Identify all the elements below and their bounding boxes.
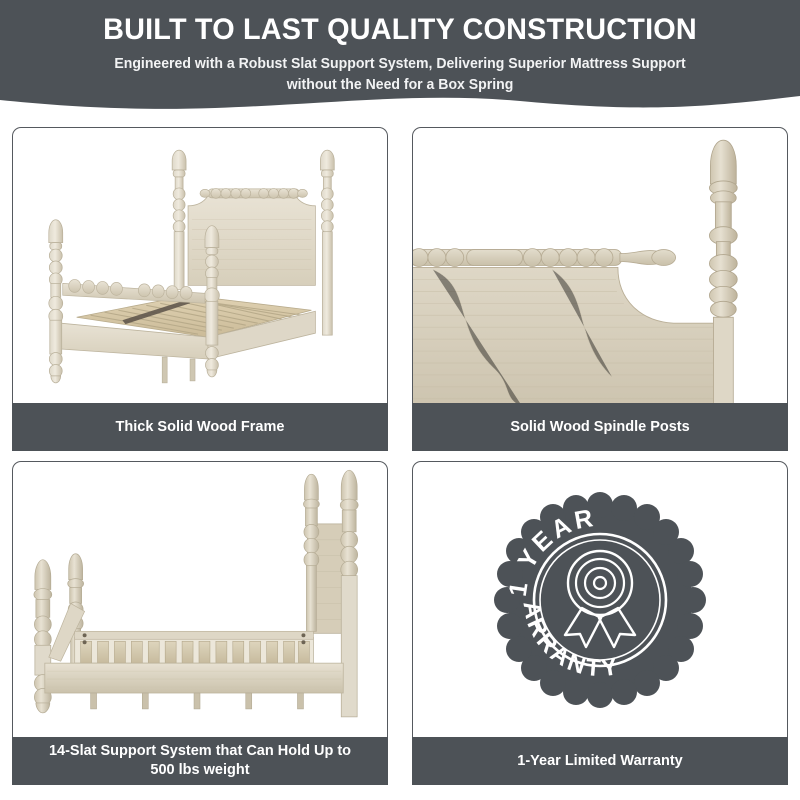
feature-card-grid: Thick Solid Wood Frame: [12, 127, 788, 785]
caption-line: Solid Wood Spindle Posts: [510, 418, 689, 437]
subtitle-line-1: Engineered with a Robust Slat Support Sy…: [12, 54, 788, 75]
feature-card-thick-solid-wood-frame: Thick Solid Wood Frame: [12, 127, 388, 451]
warranty-seal-icon: 1 YEAR WARRANTY: [487, 487, 713, 713]
page-title: BUILT TO LAST QUALITY CONSTRUCTION: [16, 11, 784, 49]
card-image-frame: [12, 127, 388, 403]
caption-line: Thick Solid Wood Frame: [116, 418, 285, 437]
header-banner: BUILT TO LAST QUALITY CONSTRUCTION Engin…: [0, 0, 800, 118]
page-subtitle: Engineered with a Robust Slat Support Sy…: [12, 49, 788, 96]
card-image-frame: [412, 127, 788, 403]
card-caption-solid-wood-spindle-posts: Solid Wood Spindle Posts: [412, 403, 788, 451]
card-image-frame: [12, 461, 388, 737]
infographic-page: BUILT TO LAST QUALITY CONSTRUCTION Engin…: [0, 0, 800, 800]
bed-frame-angled-illustration: [13, 128, 387, 403]
caption-line: 500 lbs weight: [49, 761, 351, 780]
spindle-post-closeup-illustration: [413, 128, 787, 403]
card-caption-thick-solid-wood-frame: Thick Solid Wood Frame: [12, 403, 388, 451]
slat-support-side-illustration: [13, 462, 387, 737]
card-caption-limited-warranty: 1-Year Limited Warranty: [412, 737, 788, 785]
feature-card-solid-wood-spindle-posts: Solid Wood Spindle Posts: [412, 127, 788, 451]
feature-card-limited-warranty: 1 YEAR WARRANTY 1-Year Limited Warranty: [412, 461, 788, 785]
feature-card-slat-support-system: 14-Slat Support System that Can Hold Up …: [12, 461, 388, 785]
subtitle-line-2: without the Need for a Box Spring: [12, 75, 788, 96]
card-caption-slat-support-system: 14-Slat Support System that Can Hold Up …: [12, 737, 388, 785]
caption-line: 14-Slat Support System that Can Hold Up …: [49, 742, 351, 761]
card-image-frame: 1 YEAR WARRANTY: [412, 461, 788, 737]
caption-line: 1-Year Limited Warranty: [517, 752, 682, 771]
